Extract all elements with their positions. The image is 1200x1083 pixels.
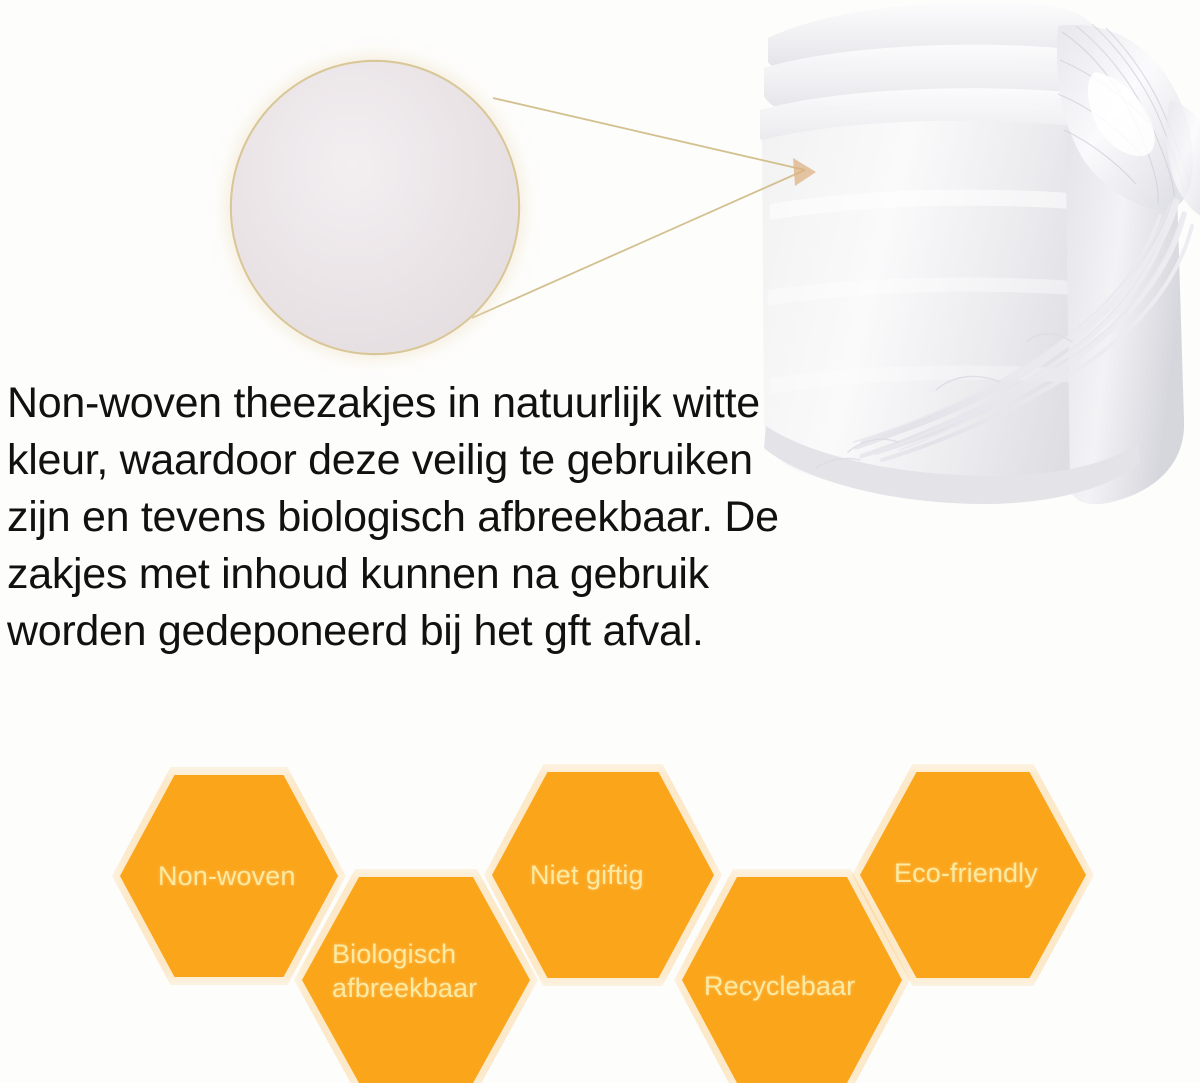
zoom-detail-circle (232, 62, 518, 353)
badge-label-biologisch-afbreekbaar: Biologisch afbreekbaar (332, 937, 477, 1005)
badge-label-recyclebaar: Recyclebaar (704, 969, 855, 1003)
product-description-text: Non-woven theezakjes in natuurlijk witte… (7, 375, 807, 660)
product-photo (740, 0, 1200, 790)
badge-label-non-woven: Non-woven (158, 859, 295, 893)
tea-bag-stack-illustration (740, 0, 1200, 790)
product-infographic-page: Non-woven theezakjes in natuurlijk witte… (0, 0, 1200, 1083)
badge-label-eco-friendly: Eco-friendly (894, 856, 1038, 890)
badge-label-niet-giftig: Niet giftig (530, 858, 644, 892)
